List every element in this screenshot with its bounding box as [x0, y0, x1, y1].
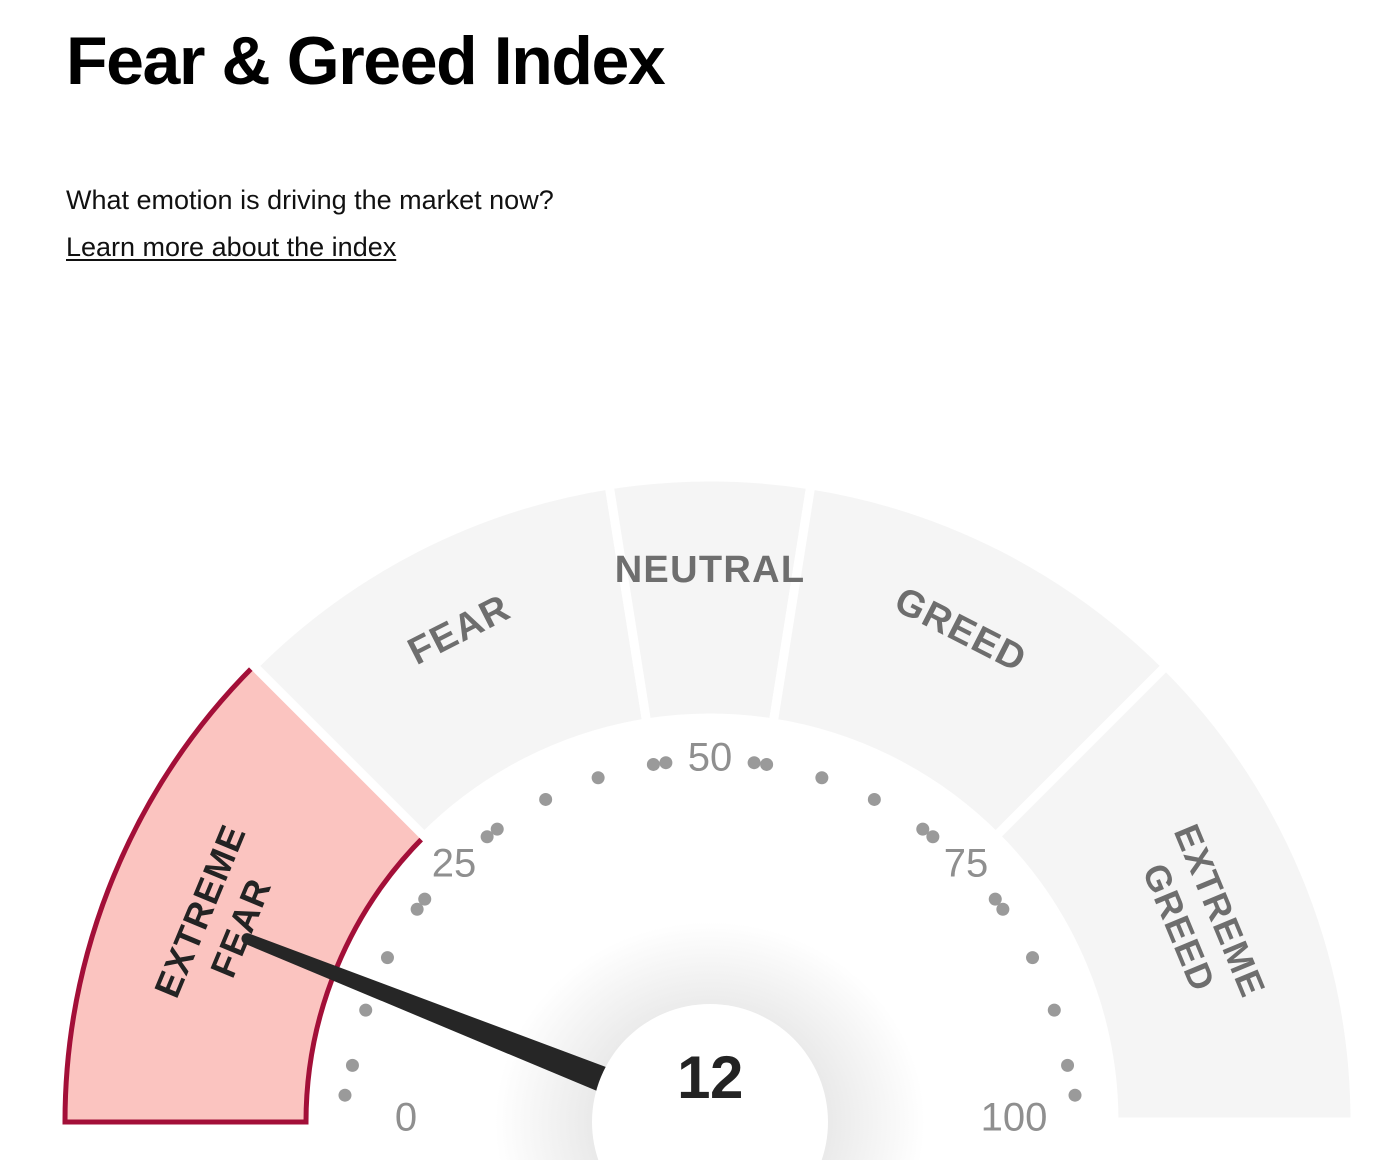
gauge-tick-label: 75 — [944, 842, 989, 886]
gauge-tick-dot — [647, 758, 660, 771]
segment-label-neutral: NEUTRAL — [615, 549, 806, 591]
gauge-tick-dot — [926, 830, 939, 843]
segment-label-line: FEAR — [202, 872, 279, 983]
gauge-needle-tip — [241, 933, 252, 944]
gauge-segment-fear — [254, 485, 647, 836]
segment-label-extreme-greed: EXTREMEGREED — [1125, 818, 1274, 1020]
segment-label-extreme-fear: EXTREMEFEAR — [146, 818, 295, 1020]
gauge-needle — [241, 933, 715, 1136]
gauge-segment-labels: EXTREMEFEARFEARNEUTRALGREEDEXTREMEGREED — [146, 549, 1274, 1020]
gauge-tick-dot — [592, 771, 605, 784]
gauge-segment-greed — [773, 485, 1166, 836]
segment-label-line: GREED — [1135, 858, 1224, 998]
gauge-tick-label: 50 — [688, 736, 733, 780]
gauge-tick-dot — [868, 793, 881, 806]
page-subtitle: What emotion is driving the market now? — [66, 184, 554, 216]
gauge-tick-dot — [1069, 1089, 1082, 1102]
page-header: Fear & Greed Index What emotion is drivi… — [66, 26, 1266, 96]
segment-label-line: FEAR — [401, 587, 517, 674]
gauge-tick-dot — [916, 823, 929, 836]
gauge-tick-label: 100 — [981, 1096, 1048, 1140]
gauge-tick-dot — [1026, 951, 1039, 964]
gauge-tick-dot — [359, 1004, 372, 1017]
fear-greed-index-page: Fear & Greed Index What emotion is drivi… — [0, 0, 1388, 1160]
gauge-ticks — [338, 756, 1081, 1101]
gauge-segments — [65, 477, 1355, 1122]
gauge-value: 12 — [677, 1044, 743, 1111]
segment-label-greed: GREED — [888, 579, 1033, 681]
gauge-tick-dot — [539, 793, 552, 806]
page-title: Fear & Greed Index — [66, 26, 1266, 96]
gauge-tick-dot — [338, 1089, 351, 1102]
gauge-tick-numbers: 0255075100 — [395, 736, 1048, 1140]
gauge-tick-dot — [491, 823, 504, 836]
segment-label-line: EXTREME — [146, 818, 254, 1003]
gauge-tick-dot — [1048, 1004, 1061, 1017]
gauge-svg: EXTREMEFEARFEARNEUTRALGREEDEXTREMEGREED … — [0, 0, 1388, 1160]
gauge-tick-dot — [381, 951, 394, 964]
gauge-tick-dot — [989, 893, 1002, 906]
segment-label-fear: FEAR — [401, 587, 517, 674]
gauge-tick-dot — [659, 756, 672, 769]
gauge-tick-dot — [815, 771, 828, 784]
gauge-tick-dot — [996, 903, 1009, 916]
gauge-tick-dot — [411, 903, 424, 916]
gauge-tick-dot — [748, 756, 761, 769]
gauge-tick-dot — [760, 758, 773, 771]
hub-glow — [495, 922, 925, 1160]
segment-label-line: NEUTRAL — [615, 549, 806, 591]
segment-label-line: GREED — [888, 579, 1033, 681]
gauge-segment-neutral — [609, 477, 811, 723]
gauge-tick-dot — [418, 893, 431, 906]
segment-label-line: EXTREME — [1166, 818, 1274, 1003]
gauge-segment-extreme-fear — [65, 666, 424, 1122]
gauge-hub — [592, 1004, 828, 1160]
gauge-segment-extreme-greed — [996, 666, 1355, 1122]
learn-more-link[interactable]: Learn more about the index — [66, 231, 396, 263]
gauge-tick-dot — [481, 830, 494, 843]
gauge-tick-label: 25 — [432, 842, 477, 886]
gauge-tick-dot — [1061, 1059, 1074, 1072]
fear-greed-gauge: EXTREMEFEARFEARNEUTRALGREEDEXTREMEGREED … — [0, 0, 1388, 1160]
gauge-needle-pointer — [245, 934, 716, 1136]
gauge-tick-dot — [346, 1059, 359, 1072]
gauge-tick-label: 0 — [395, 1096, 417, 1140]
